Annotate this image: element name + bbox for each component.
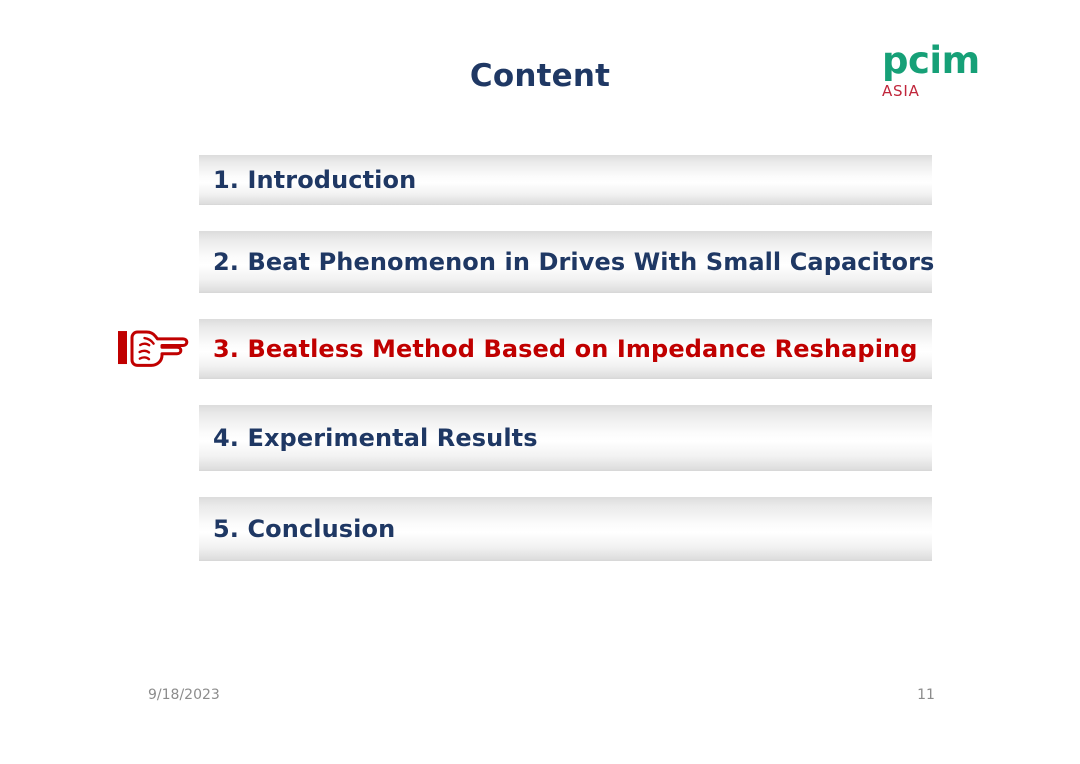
content-item-label: 3. Beatless Method Based on Impedance Re…: [199, 335, 918, 363]
page-title: Content: [0, 58, 1080, 94]
content-item-conclusion[interactable]: 5. Conclusion: [199, 497, 932, 561]
footer-page-number: 11: [906, 687, 946, 703]
content-item-label: 4. Experimental Results: [199, 424, 538, 452]
content-item-label: 5. Conclusion: [199, 515, 395, 543]
content-item-beat-phenomenon[interactable]: 2. Beat Phenomenon in Drives With Small …: [199, 231, 932, 293]
presentation-slide: pcim ASIA Content 1. Introduction 2. Bea…: [0, 0, 1080, 764]
content-item-label: 2. Beat Phenomenon in Drives With Small …: [199, 248, 934, 276]
content-row-3: 3. Beatless Method Based on Impedance Re…: [199, 319, 932, 379]
content-item-beatless-method[interactable]: 3. Beatless Method Based on Impedance Re…: [199, 319, 932, 379]
content-row-4: 4. Experimental Results: [199, 405, 932, 471]
content-item-experimental-results[interactable]: 4. Experimental Results: [199, 405, 932, 471]
content-row-5: 5. Conclusion: [199, 497, 932, 561]
content-row-1: 1. Introduction: [199, 155, 932, 205]
footer-date: 9/18/2023: [148, 687, 220, 703]
pointing-hand-right-icon: [115, 324, 191, 372]
content-item-label: 1. Introduction: [199, 166, 416, 194]
content-item-introduction[interactable]: 1. Introduction: [199, 155, 932, 205]
content-row-2: 2. Beat Phenomenon in Drives With Small …: [199, 231, 932, 293]
content-list: 1. Introduction 2. Beat Phenomenon in Dr…: [199, 155, 932, 587]
